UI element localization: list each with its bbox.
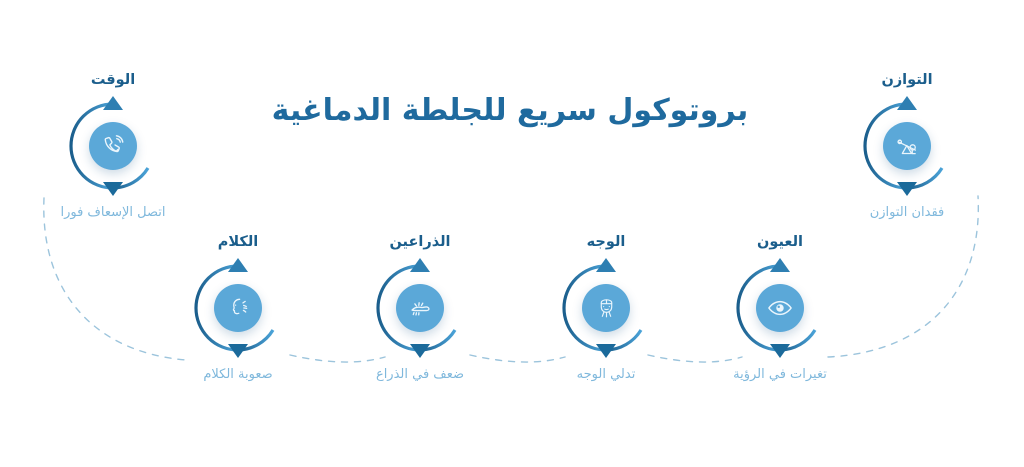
node-time-ring bbox=[38, 90, 188, 202]
infographic-canvas: بروتوكول سريع للجلطة الدماغية الوقت bbox=[0, 0, 1024, 467]
face-icon bbox=[582, 284, 630, 332]
node-speech-top-label: الكلام bbox=[163, 232, 313, 252]
node-time-bottom-label: اتصل الإسعاف فورا bbox=[38, 204, 188, 222]
node-arms-ring bbox=[345, 252, 495, 364]
arm-icon bbox=[396, 284, 444, 332]
node-face[interactable]: الوجه bbox=[531, 232, 681, 384]
node-eyes-ring bbox=[705, 252, 855, 364]
node-face-top-label: الوجه bbox=[531, 232, 681, 252]
node-eyes[interactable]: العيون bbox=[705, 232, 855, 384]
node-balance-top-label: التوازن bbox=[832, 70, 982, 90]
node-time[interactable]: الوقت ا bbox=[38, 70, 188, 222]
node-eyes-bottom-label: تغيرات في الرؤية bbox=[705, 366, 855, 384]
phone-icon bbox=[89, 122, 137, 170]
node-time-top-label: الوقت bbox=[38, 70, 188, 90]
node-balance-ring bbox=[832, 90, 982, 202]
node-arms-bottom-label: ضعف في الذراع bbox=[345, 366, 495, 384]
node-arms-top-label: الذراعين bbox=[345, 232, 495, 252]
speaking-face-icon bbox=[214, 284, 262, 332]
node-balance-bottom-label: فقدان التوازن bbox=[832, 204, 982, 222]
balance-seesaw-icon bbox=[883, 122, 931, 170]
node-arms[interactable]: الذراعين bbox=[345, 232, 495, 384]
node-speech-bottom-label: صعوبة الكلام bbox=[163, 366, 313, 384]
eye-icon bbox=[756, 284, 804, 332]
node-eyes-top-label: العيون bbox=[705, 232, 855, 252]
node-speech[interactable]: الكلام bbox=[163, 232, 313, 384]
node-face-bottom-label: تدلي الوجه bbox=[531, 366, 681, 384]
page-title: بروتوكول سريع للجلطة الدماغية bbox=[210, 92, 810, 130]
node-face-ring bbox=[531, 252, 681, 364]
node-speech-ring bbox=[163, 252, 313, 364]
node-balance[interactable]: التوازن bbox=[832, 70, 982, 222]
